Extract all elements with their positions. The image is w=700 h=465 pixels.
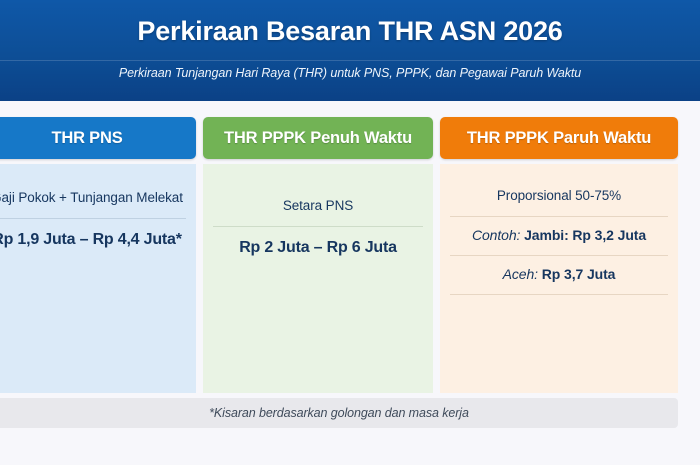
column-body-thr-pppk-paruh-waktu: Proporsional 50-75% Contoh: Jambi: Rp 3,… bbox=[440, 164, 678, 393]
page-subtitle: Perkiraan Tunjangan Hari Raya (THR) untu… bbox=[0, 66, 700, 80]
column-thr-pppk-paruh-waktu: THR PPPK Paruh Waktu Proporsional 50-75%… bbox=[440, 101, 678, 397]
comparison-columns: THR PNS Gaji Pokok + Tunjangan Melekat R… bbox=[0, 101, 700, 397]
example-value-jambi: Jambi: Rp 3,2 Juta bbox=[524, 227, 646, 245]
column-thr-pppk-penuh-waktu: THR PPPK Penuh Waktu Setara PNS Rp 2 Jut… bbox=[203, 101, 433, 397]
example-prefix-contoh: Contoh: bbox=[472, 227, 520, 245]
example-prefix-aceh: Aceh: bbox=[503, 266, 538, 284]
column-thr-pns: THR PNS Gaji Pokok + Tunjangan Melekat R… bbox=[0, 101, 196, 397]
column-body-thr-pppk-penuh-waktu: Setara PNS Rp 2 Juta – Rp 6 Juta bbox=[203, 164, 433, 393]
example-row-aceh: Aceh: Rp 3,7 Juta bbox=[450, 256, 668, 294]
column-heading-thr-pppk-penuh-waktu: THR PPPK Penuh Waktu bbox=[203, 117, 433, 159]
example-row-jambi: Contoh: Jambi: Rp 3,2 Juta bbox=[450, 217, 668, 255]
basis-label-pppk-paruh: Proporsional 50-75% bbox=[450, 176, 668, 216]
amount-value-pppk-penuh: Rp 2 Juta – Rp 6 Juta bbox=[213, 227, 423, 269]
column-heading-thr-pns: THR PNS bbox=[0, 117, 196, 159]
infographic-header: Perkiraan Besaran THR ASN 2026 Perkiraan… bbox=[0, 0, 700, 101]
page-title: Perkiraan Besaran THR ASN 2026 bbox=[0, 16, 700, 47]
example-value-aceh: Rp 3,7 Juta bbox=[542, 266, 616, 284]
basis-label-pppk-penuh: Setara PNS bbox=[213, 186, 423, 226]
spacer bbox=[213, 164, 423, 186]
column-heading-thr-pppk-paruh-waktu: THR PPPK Paruh Waktu bbox=[440, 117, 678, 159]
spacer bbox=[450, 164, 668, 176]
spacer bbox=[0, 164, 186, 178]
amount-value-pns: Rp 1,9 Juta – Rp 4,4 Juta* bbox=[0, 219, 186, 261]
column-body-thr-pns: Gaji Pokok + Tunjangan Melekat Rp 1,9 Ju… bbox=[0, 164, 196, 393]
row-divider bbox=[450, 294, 668, 295]
basis-label-pns: Gaji Pokok + Tunjangan Melekat bbox=[0, 178, 186, 218]
footer-note-bar: *Kisaran berdasarkan golongan dan masa k… bbox=[0, 398, 678, 428]
footer-note-text: *Kisaran berdasarkan golongan dan masa k… bbox=[209, 406, 469, 420]
